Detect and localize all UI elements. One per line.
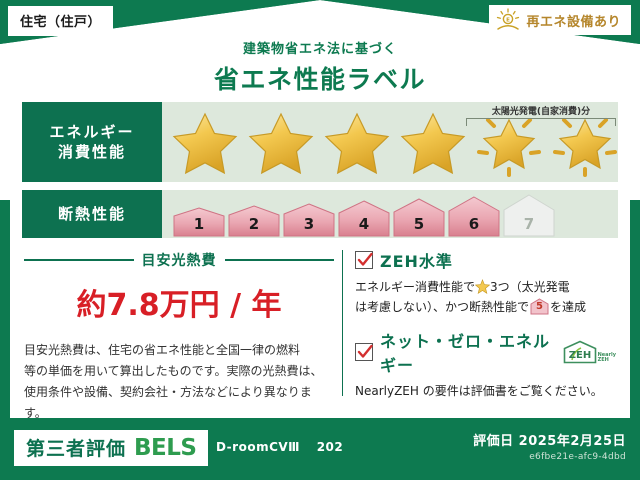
energy-label-line2: 消費性能: [58, 142, 126, 162]
zeh-body-line2-part2: を達成: [550, 300, 586, 314]
svg-text:ZEH: ZEH: [568, 350, 590, 361]
insulation-performance-label: 断熱性能: [22, 190, 162, 238]
label-footer: 第三者評価 BELS D-roomCVⅢ 202 評価日 2025年2月25日 …: [0, 418, 640, 480]
zeh-body-part2: 光発電: [534, 280, 570, 294]
renewable-equipment-badge: E 再エネ設備あり: [489, 5, 631, 35]
zeh-standard-title: ZEH水準: [380, 248, 453, 272]
star-icon: [396, 107, 470, 177]
zeh-sub-line2: ZEH: [598, 357, 609, 363]
grade-number: 4: [337, 215, 391, 233]
insulation-grade-house: 2: [227, 205, 281, 237]
zeh-body-line2-part1: は考慮しない）、かつ断熱性能で: [355, 300, 529, 314]
check-icon: [355, 251, 373, 269]
building-unit-info: D-roomCVⅢ 202: [216, 440, 343, 454]
lower-section: 目安光熱費 約7.8万円 / 年 目安光熱費は、住宅の省エネ性能と全国一律の燃料…: [24, 248, 616, 408]
star-icon: [320, 107, 394, 177]
label-card: エネルギー 消費性能: [10, 96, 630, 418]
grade-number: 5: [392, 215, 446, 233]
svg-text:E: E: [507, 18, 511, 24]
net-zero-title: ネット・ゼロ・エネルギー: [380, 328, 552, 376]
zeh-standard-body: エネルギー消費性能で3つ（太光発電 は考慮しない）、かつ断熱性能で5を達成: [355, 277, 616, 318]
insulation-grade-house: 1: [172, 207, 226, 237]
bels-certification-box: 第三者評価 BELS: [14, 430, 208, 466]
evaluation-date-label: 評価日: [473, 434, 514, 449]
insulation-grade-house-inactive: 7: [502, 194, 556, 237]
zeh-standard-block: ZEH水準 エネルギー消費性能で3つ（太光発電 は考慮しない）、かつ断熱性能で5…: [355, 248, 616, 318]
energy-label-root: 住宅（住戸） E 再エネ設備あり 建築物省エネ法に基づく 省エネ性能ラベル: [0, 0, 640, 480]
cost-note-line1: 目安光熱費は、住宅の省エネ性能と全国一律の燃料: [24, 340, 334, 361]
bels-jp-label: 第三者評価: [26, 434, 126, 461]
criteria-column: ZEH水準 エネルギー消費性能で3つ（太光発電 は考慮しない）、かつ断熱性能で5…: [353, 248, 616, 408]
star-icon-inline: [475, 279, 490, 294]
cost-note-line2: 等の単価を用いて算出したものです。実際の光熱費は、: [24, 361, 334, 382]
energy-performance-body: 太陽光発電(自家消費)分: [162, 102, 622, 182]
evaluation-id: e6fbe21e-afc9-4dbd: [473, 452, 626, 462]
bels-logo-text: BELS: [134, 435, 196, 461]
title-main: 省エネ性能ラベル: [0, 60, 640, 96]
net-zero-block: ネット・ゼロ・エネルギー ZEH Nearly ZEH: [355, 328, 616, 401]
cost-heading: 目安光熱費: [24, 250, 334, 270]
inline-house-grade: 5: [530, 298, 549, 315]
dwelling-type-tag: 住宅（住戸）: [8, 6, 113, 36]
zeh-body-part1: エネルギー消費性能で: [355, 280, 475, 294]
insulation-grade-scale: 1 2 3: [162, 191, 556, 237]
bracket-line: [466, 118, 616, 126]
solar-portion-bracket: 太陽光発電(自家消費)分: [466, 104, 616, 126]
insulation-grade-house: 3: [282, 203, 336, 237]
insulation-grade-house: 6: [447, 196, 501, 237]
insulation-performance-row: 断熱性能: [22, 190, 618, 238]
net-zero-body: NearlyZEH の要件は評価書をご覧ください。: [355, 381, 616, 401]
cost-note: 目安光熱費は、住宅の省エネ性能と全国一律の燃料 等の単価を用いて算出したものです…: [24, 340, 334, 424]
energy-performance-label: エネルギー 消費性能: [22, 102, 162, 182]
evaluation-info: 評価日 2025年2月25日 e6fbe21e-afc9-4dbd: [473, 430, 626, 462]
label-title-block: 建築物省エネ法に基づく 省エネ性能ラベル: [0, 38, 640, 96]
star-icon: [244, 107, 318, 177]
insulation-grade-house: 5: [392, 198, 446, 237]
grade-number: 2: [227, 215, 281, 233]
cost-heading-label: 目安光熱費: [142, 250, 217, 270]
heading-rule-right: [225, 259, 335, 261]
insulation-grade-house: 4: [337, 200, 391, 237]
grade-number: 1: [172, 215, 226, 233]
zeh-logo-icon: ZEH Nearly ZEH: [563, 340, 616, 364]
check-icon: [355, 343, 373, 361]
energy-performance-row: エネルギー 消費性能: [22, 102, 618, 182]
renewable-badge-label: 再エネ設備あり: [526, 11, 621, 30]
house-icon-inline: 5: [530, 298, 549, 315]
zeh-body-stars: 3つ（太: [490, 280, 534, 294]
insulation-performance-body: 1 2 3: [162, 190, 618, 238]
grade-number: 7: [502, 215, 556, 233]
heading-rule-left: [24, 259, 134, 261]
solar-bracket-label: 太陽光発電(自家消費)分: [466, 104, 616, 117]
cost-value: 約7.8万円 / 年: [24, 280, 334, 324]
cost-column: 目安光熱費 約7.8万円 / 年 目安光熱費は、住宅の省エネ性能と全国一律の燃料…: [24, 248, 342, 408]
net-zero-head: ネット・ゼロ・エネルギー ZEH Nearly ZEH: [355, 328, 616, 376]
evaluation-date-value: 2025年2月25日: [519, 434, 626, 449]
evaluation-date-row: 評価日 2025年2月25日: [473, 430, 626, 449]
grade-number: 3: [282, 215, 336, 233]
grade-number: 6: [447, 215, 501, 233]
zeh-logo-subtext: Nearly ZEH: [598, 353, 616, 364]
column-divider: [342, 250, 343, 396]
building-name: D-roomCVⅢ: [216, 440, 300, 454]
room-number: 202: [317, 440, 344, 454]
sun-solar-icon: E: [495, 8, 521, 32]
title-subtitle: 建築物省エネ法に基づく: [0, 38, 640, 57]
zeh-standard-head: ZEH水準: [355, 248, 616, 272]
energy-label-line1: エネルギー: [49, 122, 134, 142]
star-icon: [168, 107, 242, 177]
